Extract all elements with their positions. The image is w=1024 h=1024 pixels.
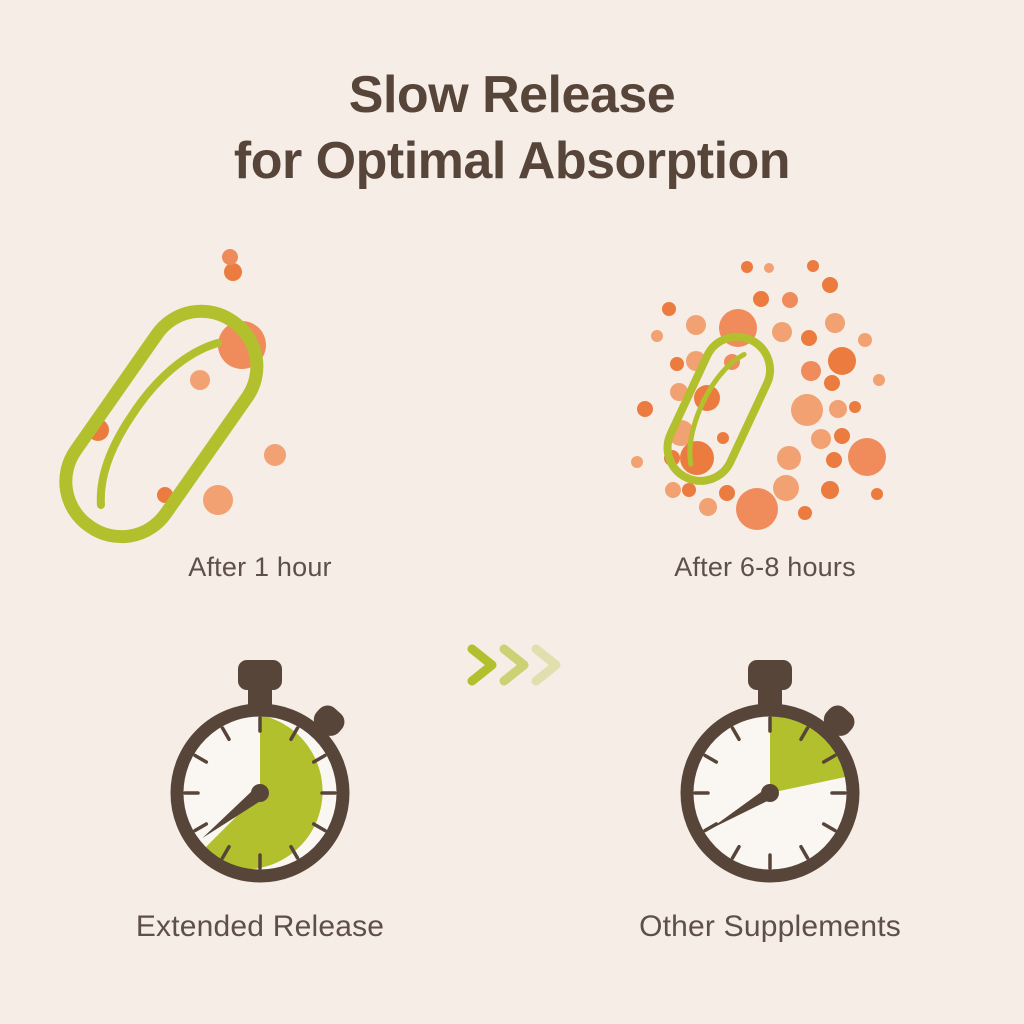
title-line-1: Slow Release [0,62,1024,128]
title-line-2: for Optimal Absorption [0,128,1024,194]
comparison-extended-release: Extended Release [70,660,450,980]
stage-after-1-hour: After 1 hour [70,250,450,620]
page-title: Slow Release for Optimal Absorption [0,62,1024,194]
capsule-outline-large [45,290,279,558]
stopwatch-hub [761,784,779,802]
infographic-poster: Slow Release for Optimal Absorption [0,0,1024,1024]
capsule-intact-icon [70,250,450,540]
stopwatch-icon [670,660,870,890]
stage-caption-after-1-hour: After 1 hour [70,550,450,584]
stage-after-6-8-hours: After 6-8 hours [575,250,955,620]
stopwatch-stem [248,684,272,706]
capsule-stages-row: After 1 hour [0,250,1024,620]
stopwatch-icon [160,660,360,890]
comparison-caption-other-supplements: Other Supplements [580,908,960,946]
capsule-dissolved-icon [575,250,955,540]
stage-caption-after-6-8-hours: After 6-8 hours [575,550,955,584]
capsule-outline-small [657,326,781,492]
comparison-caption-extended-release: Extended Release [70,908,450,946]
comparison-row: Extended Release [0,660,1024,980]
stopwatch-stem [758,684,782,706]
comparison-other-supplements: Other Supplements [580,660,960,980]
stopwatch-hub [251,784,269,802]
